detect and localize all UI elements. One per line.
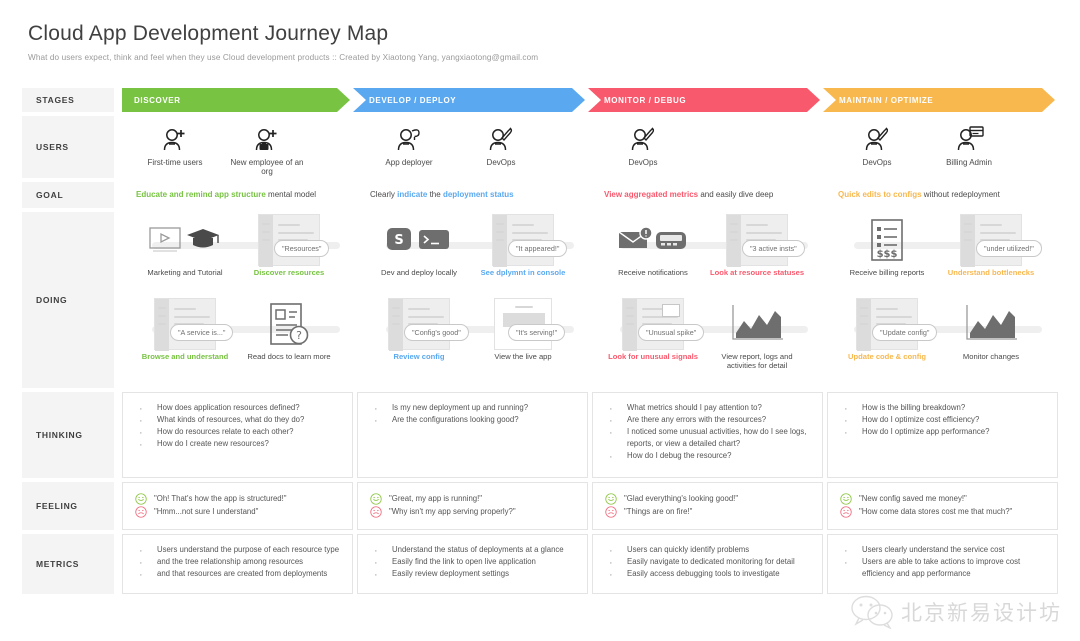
area-chart-icon xyxy=(963,303,1019,345)
list-item: How do I optimize cost efficiency? xyxy=(840,414,1047,426)
goal-text: Educate and remind app structure mental … xyxy=(122,182,356,200)
person-plus-briefcase-icon xyxy=(251,126,283,153)
doing-art xyxy=(942,296,1040,352)
happy-face-icon xyxy=(370,493,382,505)
list-item: How do I optimize app performance? xyxy=(840,426,1047,438)
feeling-text: "Why isn't my app serving properly?" xyxy=(389,505,516,518)
doing-caption: See dplymnt in console xyxy=(474,268,572,277)
feeling-text: "Hmm...not sure I understand" xyxy=(154,505,258,518)
svg-text:?: ? xyxy=(296,329,302,342)
happy-face-icon xyxy=(135,493,147,505)
thinking-card: What metrics should I pay attention to?A… xyxy=(592,392,823,478)
feeling-item: "Hmm...not sure I understand" xyxy=(135,505,342,518)
doing-items: "Unusual spike"Look for unusual signalsV… xyxy=(590,296,824,371)
list-item: What metrics should I pay attention to? xyxy=(605,402,812,414)
sad-face-icon xyxy=(135,506,147,518)
journey-map: STAGES DISCOVERDEVELOP / DEPLOYMONITOR /… xyxy=(22,88,1058,598)
doing-art: "Unusual spike" xyxy=(604,296,702,352)
goal-text: Quick edits to configs without redeploym… xyxy=(824,182,1058,200)
thinking-list: Is my new deployment up and running?Are … xyxy=(370,402,577,426)
feeling-item: "Glad everything's looking good!" xyxy=(605,492,812,505)
users-container: First-time usersNew employee of an orgAp… xyxy=(122,116,1058,178)
doing-item: "Update config"Update code & config xyxy=(838,296,936,361)
users-column-3: DevOpsBilling Admin xyxy=(824,116,1058,178)
happy-face-icon xyxy=(840,493,852,505)
goal-column-0: Educate and remind app structure mental … xyxy=(122,182,356,208)
thinking-list: What metrics should I pay attention to?A… xyxy=(605,402,812,462)
video-graduation-icon xyxy=(149,223,221,257)
list-item: Easily access debugging tools to investi… xyxy=(605,568,812,580)
doing-column-1: "Config's good"Review config"It's servin… xyxy=(356,296,590,380)
metrics-card: Users understand the purpose of each res… xyxy=(122,534,353,594)
list-item: and the tree relationship among resource… xyxy=(135,556,342,568)
doing-column-0: Marketing and Tutorial"Resources"Discove… xyxy=(122,212,356,296)
doing-art: "A service is..." xyxy=(136,296,234,352)
doing-container: Marketing and Tutorial"Resources"Discove… xyxy=(122,212,1058,388)
row-label-users: USERS xyxy=(22,116,114,178)
user-devops: DevOps xyxy=(604,126,682,167)
user-label: New employee of an org xyxy=(228,158,306,176)
doing-caption: View the live app xyxy=(474,352,572,361)
sad-face-icon xyxy=(605,506,617,518)
page-header: Cloud App Development Journey Map What d… xyxy=(0,0,1080,62)
doing-column-3: "Update config"Update code & configMonit… xyxy=(824,296,1058,380)
users-group: First-time usersNew employee of an org xyxy=(122,116,356,176)
list-item: Easily find the link to open live applic… xyxy=(370,556,577,568)
invoice-icon: $$$ xyxy=(868,218,906,262)
metrics-row: METRICS Users understand the purpose of … xyxy=(22,534,1058,594)
doing-item: "A service is..."Browse and understand xyxy=(136,296,234,361)
list-item: How do resources relate to each other? xyxy=(135,426,342,438)
feeling-item: "Things are on fire!" xyxy=(605,505,812,518)
doing-art: "Config's good" xyxy=(370,296,468,352)
list-item: Understand the status of deployments at … xyxy=(370,544,577,556)
goal-container: Educate and remind app structure mental … xyxy=(122,182,1058,208)
user-label: App deployer xyxy=(370,158,448,167)
row-label-goal: GOAL xyxy=(22,182,114,208)
thinking-card: How is the billing breakdown?How do I op… xyxy=(827,392,1058,478)
docs-question-icon: ? xyxy=(268,302,310,346)
person-thought-icon xyxy=(393,126,425,153)
user-label: Billing Admin xyxy=(930,158,1008,167)
stages-container: DISCOVERDEVELOP / DEPLOYMONITOR / DEBUGM… xyxy=(122,88,1058,112)
goal-text: View aggregated metrics and easily dive … xyxy=(590,182,824,200)
users-column-1: App deployerDevOps xyxy=(356,116,590,178)
doing-column-1: SDev and deploy locally"It appeared!"See… xyxy=(356,212,590,296)
list-item: Users understand the purpose of each res… xyxy=(135,544,342,556)
doing-caption: Look for unusual signals xyxy=(604,352,702,361)
doing-row: DOING Marketing and Tutorial"Resources"D… xyxy=(22,212,1058,388)
metrics-card: Understand the status of deployments at … xyxy=(357,534,588,594)
goal-row: GOAL Educate and remind app structure me… xyxy=(22,182,1058,208)
speech-bubble: "Unusual spike" xyxy=(638,324,704,341)
list-item: How do I debug the resource? xyxy=(605,450,812,462)
svg-text:$$$: $$$ xyxy=(877,249,898,260)
doing-item: SDev and deploy locally xyxy=(370,212,468,277)
feeling-container: "Oh! That's how the app is structured!""… xyxy=(122,482,1058,530)
doing-line-2: "A service is..."Browse and understand?R… xyxy=(122,296,1058,380)
feeling-list: "New config saved me money!""How come da… xyxy=(840,492,1047,519)
user-devops: DevOps xyxy=(462,126,540,167)
goal-column-3: Quick edits to configs without redeploym… xyxy=(824,182,1058,208)
stage-label: MONITOR / DEBUG xyxy=(604,96,686,105)
sad-face-icon xyxy=(370,506,382,518)
thinking-card: Is my new deployment up and running?Are … xyxy=(357,392,588,478)
svg-text:S: S xyxy=(394,233,403,248)
list-item: Users are able to take actions to improv… xyxy=(840,556,1047,580)
doing-column-2: Receive notifications"3 active insts"Loo… xyxy=(590,212,824,296)
metrics-card: Users clearly understand the service cos… xyxy=(827,534,1058,594)
doing-item: "Config's good"Review config xyxy=(370,296,468,361)
speech-bubble: "Config's good" xyxy=(404,324,469,341)
list-item: Are there any errors with the resources? xyxy=(605,414,812,426)
row-label-thinking: THINKING xyxy=(22,392,114,478)
speech-bubble: "Update config" xyxy=(872,324,937,341)
doing-art: "It appeared!" xyxy=(474,212,572,268)
feeling-card: "Glad everything's looking good!""Things… xyxy=(592,482,823,530)
doing-art: "Update config" xyxy=(838,296,936,352)
doing-caption: Update code & config xyxy=(838,352,936,361)
user-label: DevOps xyxy=(604,158,682,167)
doing-item: "under utilized!"Understand bottlenecks xyxy=(942,212,1040,277)
speech-bubble: "3 active insts" xyxy=(742,240,805,257)
feeling-list: "Glad everything's looking good!""Things… xyxy=(605,492,812,519)
doing-item: $$$Receive billing reports xyxy=(838,212,936,277)
doing-art: "It's serving!" xyxy=(474,296,572,352)
person-wrench-icon xyxy=(485,126,517,153)
users-column-2: DevOps xyxy=(590,116,824,178)
doing-item: "3 active insts"Look at resource statuse… xyxy=(708,212,806,277)
goal-column-2: View aggregated metrics and easily dive … xyxy=(590,182,824,208)
user-label: DevOps xyxy=(838,158,916,167)
doing-item: "Unusual spike"Look for unusual signals xyxy=(604,296,702,371)
feeling-list: "Great, my app is running!""Why isn't my… xyxy=(370,492,577,519)
users-group: DevOps xyxy=(590,116,824,167)
thinking-card: How does application resources defined?W… xyxy=(122,392,353,478)
speech-bubble: "under utilized!" xyxy=(976,240,1042,257)
doing-caption: Browse and understand xyxy=(136,352,234,361)
feeling-list: "Oh! That's how the app is structured!""… xyxy=(135,492,342,519)
sdk-terminal-icon: S xyxy=(386,224,452,256)
list-item: Easily navigate to dedicated monitoring … xyxy=(605,556,812,568)
metrics-list: Users clearly understand the service cos… xyxy=(840,544,1047,580)
list-item: How do I create new resources? xyxy=(135,438,342,450)
feeling-item: "How come data stores cost me that much?… xyxy=(840,505,1047,518)
user-label: DevOps xyxy=(462,158,540,167)
metrics-container: Users understand the purpose of each res… xyxy=(122,534,1058,594)
person-card-icon xyxy=(953,126,985,153)
user-billing-admin: Billing Admin xyxy=(930,126,1008,167)
doing-caption: View report, logs and activities for det… xyxy=(708,352,806,371)
list-item: Is my new deployment up and running? xyxy=(370,402,577,414)
list-item: Users can quickly identify problems xyxy=(605,544,812,556)
doing-caption: Monitor changes xyxy=(942,352,1040,361)
users-group: App deployerDevOps xyxy=(356,116,590,167)
feeling-row: FEELING "Oh! That's how the app is struc… xyxy=(22,482,1058,530)
happy-face-icon xyxy=(605,493,617,505)
row-label-stages: STAGES xyxy=(22,88,114,112)
doing-item: "Resources"Discover resources xyxy=(240,212,338,277)
doing-caption: Read docs to learn more xyxy=(240,352,338,361)
metrics-list: Users can quickly identify problemsEasil… xyxy=(605,544,812,580)
feeling-card: "Oh! That's how the app is structured!""… xyxy=(122,482,353,530)
person-plus-icon xyxy=(159,126,191,153)
wechat-icon xyxy=(851,595,895,629)
stage-monitor-debug[interactable]: MONITOR / DEBUG xyxy=(588,88,820,112)
list-item: Are the configurations looking good? xyxy=(370,414,577,426)
user-label: First-time users xyxy=(136,158,214,167)
doing-caption: Review config xyxy=(370,352,468,361)
feeling-item: "Oh! That's how the app is structured!" xyxy=(135,492,342,505)
metrics-list: Users understand the purpose of each res… xyxy=(135,544,342,580)
doing-item: Receive notifications xyxy=(604,212,702,277)
users-row: USERS First-time usersNew employee of an… xyxy=(22,116,1058,178)
thinking-container: How does application resources defined?W… xyxy=(122,392,1058,478)
thinking-list: How is the billing breakdown?How do I op… xyxy=(840,402,1047,438)
doing-caption: Marketing and Tutorial xyxy=(136,268,234,277)
doing-art: "Resources" xyxy=(240,212,338,268)
feeling-text: "Things are on fire!" xyxy=(624,505,692,518)
stage-maintain-optimize[interactable]: MAINTAIN / OPTIMIZE xyxy=(823,88,1055,112)
sad-face-icon xyxy=(840,506,852,518)
speech-bubble: "Resources" xyxy=(274,240,329,257)
doing-item: Monitor changes xyxy=(942,296,1040,361)
list-item: What kinds of resources, what do they do… xyxy=(135,414,342,426)
list-item: Easily review deployment settings xyxy=(370,568,577,580)
doing-art: "under utilized!" xyxy=(942,212,1040,268)
list-item: I noticed some unusual activities, how d… xyxy=(605,426,812,450)
feeling-text: "How come data stores cost me that much?… xyxy=(859,505,1012,518)
doing-art xyxy=(708,296,806,352)
person-wrench-icon xyxy=(627,126,659,153)
thinking-row: THINKING How does application resources … xyxy=(22,392,1058,478)
doing-caption: Discover resources xyxy=(240,268,338,277)
goal-text: Clearly indicate the deployment status xyxy=(356,182,590,200)
goal-column-1: Clearly indicate the deployment status xyxy=(356,182,590,208)
doing-caption: Understand bottlenecks xyxy=(942,268,1040,277)
doing-caption: Dev and deploy locally xyxy=(370,268,468,277)
list-item: How does application resources defined? xyxy=(135,402,342,414)
doing-column-3: $$$Receive billing reports"under utilize… xyxy=(824,212,1058,296)
doing-item: "It's serving!"View the live app xyxy=(474,296,572,361)
metrics-card: Users can quickly identify problemsEasil… xyxy=(592,534,823,594)
speech-bubble: "It's serving!" xyxy=(508,324,565,341)
doing-art xyxy=(604,212,702,268)
feeling-item: "Why isn't my app serving properly?" xyxy=(370,505,577,518)
feeling-item: "Great, my app is running!" xyxy=(370,492,577,505)
feeling-text: "Glad everything's looking good!" xyxy=(624,492,738,505)
user-devops: DevOps xyxy=(838,126,916,167)
doing-caption: Receive notifications xyxy=(604,268,702,277)
doing-item: View report, logs and activities for det… xyxy=(708,296,806,371)
doing-line-1: Marketing and Tutorial"Resources"Discove… xyxy=(122,212,1058,296)
feeling-card: "Great, my app is running!""Why isn't my… xyxy=(357,482,588,530)
user-app-deployer: App deployer xyxy=(370,126,448,167)
speech-bubble: "It appeared!" xyxy=(508,240,567,257)
person-wrench-icon xyxy=(861,126,893,153)
row-label-feeling: FEELING xyxy=(22,482,114,530)
stage-label: DISCOVER xyxy=(134,96,181,105)
feeling-text: "New config saved me money!" xyxy=(859,492,967,505)
users-column-0: First-time usersNew employee of an org xyxy=(122,116,356,178)
user-first-time-users: First-time users xyxy=(136,126,214,176)
stage-label: DEVELOP / DEPLOY xyxy=(369,96,456,105)
doing-art: "3 active insts" xyxy=(708,212,806,268)
doing-caption: Receive billing reports xyxy=(838,268,936,277)
feeling-item: "New config saved me money!" xyxy=(840,492,1047,505)
doing-item: Marketing and Tutorial xyxy=(136,212,234,277)
page-title: Cloud App Development Journey Map xyxy=(28,22,1080,46)
speech-bubble: "A service is..." xyxy=(170,324,233,341)
feeling-card: "New config saved me money!""How come da… xyxy=(827,482,1058,530)
stage-label: MAINTAIN / OPTIMIZE xyxy=(839,96,933,105)
row-label-doing: DOING xyxy=(22,212,114,388)
area-chart-icon xyxy=(729,303,785,345)
watermark: 北京新易设计坊 xyxy=(851,595,1062,629)
page-subtitle: What do users expect, think and feel whe… xyxy=(28,53,1080,62)
feeling-text: "Great, my app is running!" xyxy=(389,492,482,505)
doing-item: "It appeared!"See dplymnt in console xyxy=(474,212,572,277)
doing-art: $$$ xyxy=(838,212,936,268)
stages-row: STAGES DISCOVERDEVELOP / DEPLOYMONITOR /… xyxy=(22,88,1058,112)
stage-discover[interactable]: DISCOVER xyxy=(122,88,350,112)
doing-art xyxy=(136,212,234,268)
doing-art: S xyxy=(370,212,468,268)
row-label-metrics: METRICS xyxy=(22,534,114,594)
thinking-list: How does application resources defined?W… xyxy=(135,402,342,450)
doing-column-0: "A service is..."Browse and understand?R… xyxy=(122,296,356,380)
list-item: Users clearly understand the service cos… xyxy=(840,544,1047,556)
doing-column-2: "Unusual spike"Look for unusual signalsV… xyxy=(590,296,824,380)
list-item: How is the billing breakdown? xyxy=(840,402,1047,414)
list-item: and that resources are created from depl… xyxy=(135,568,342,580)
users-group: DevOpsBilling Admin xyxy=(824,116,1058,167)
metrics-list: Understand the status of deployments at … xyxy=(370,544,577,580)
doing-art: ? xyxy=(240,296,338,352)
feeling-text: "Oh! That's how the app is structured!" xyxy=(154,492,287,505)
stage-develop-deploy[interactable]: DEVELOP / DEPLOY xyxy=(353,88,585,112)
mail-pager-icon xyxy=(618,224,688,256)
user-new-employee-of-an-org: New employee of an org xyxy=(228,126,306,176)
doing-caption: Look at resource statuses xyxy=(708,268,806,277)
watermark-text: 北京新易设计坊 xyxy=(901,597,1062,627)
doing-item: ?Read docs to learn more xyxy=(240,296,338,361)
